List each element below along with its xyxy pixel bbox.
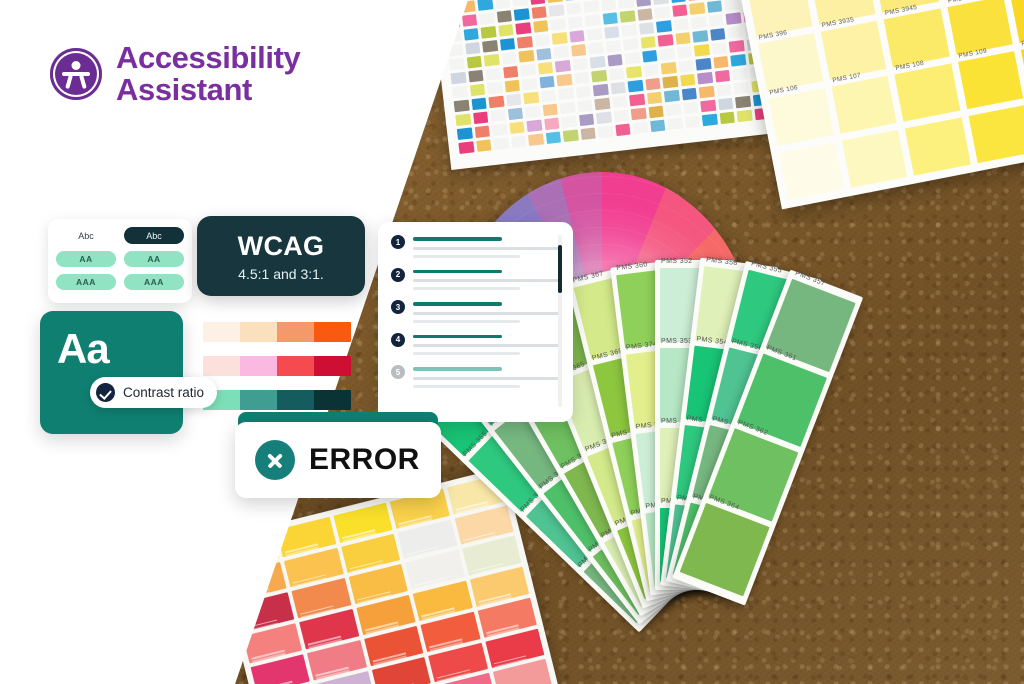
- orange-row: [203, 322, 351, 342]
- list-item[interactable]: 1: [391, 235, 561, 258]
- multicolor-swatch: [495, 0, 511, 9]
- multicolor-swatch: [699, 86, 715, 99]
- multicolor-swatch: [724, 0, 740, 11]
- multicolor-swatch: [643, 64, 659, 77]
- multicolor-swatch: [496, 10, 512, 23]
- multicolor-swatch: [548, 4, 564, 17]
- multicolor-swatch: [574, 72, 590, 85]
- multicolor-swatch: [507, 108, 523, 121]
- palette-swatch: [277, 390, 314, 410]
- accessibility-person-icon: [50, 48, 102, 100]
- multicolor-swatch: [670, 0, 686, 3]
- multicolor-swatch: [713, 56, 729, 69]
- icon-leg-right: [79, 74, 87, 89]
- icon-arms: [62, 72, 90, 76]
- multicolor-swatch: [446, 30, 462, 43]
- list-item-line: [413, 287, 520, 290]
- brand-name-line1: Accessibility: [116, 42, 300, 74]
- palette-swatch: [277, 322, 314, 342]
- multicolor-swatch: [609, 68, 625, 81]
- multicolor-swatch: [545, 131, 561, 144]
- mini-palette-swatches: [203, 322, 351, 424]
- multicolor-swatch: [492, 123, 508, 136]
- multicolor-swatch: [536, 48, 552, 61]
- yellow-swatch: PMS 3935: [821, 21, 886, 79]
- brand-name: Accessibility Assistant: [116, 42, 300, 106]
- palette-swatch: [314, 356, 351, 376]
- multicolor-swatch: [692, 30, 708, 43]
- x-circle-icon: [255, 440, 295, 480]
- contrast-levels-card: Abc AA AAA Abc AA AAA: [48, 219, 192, 303]
- multicolor-swatch: [463, 28, 479, 41]
- list-item-line: [413, 312, 561, 315]
- multicolor-swatch: [605, 40, 621, 53]
- contrast-column-light: Abc AA AAA: [56, 227, 116, 295]
- contrast-column-dark: Abc AA AAA: [124, 227, 184, 295]
- multicolor-swatch: [566, 2, 582, 15]
- multicolor-swatch: [542, 104, 558, 117]
- pms-swatch-label: PMS 352: [661, 258, 693, 265]
- level-badge-aaa-light: AAA: [56, 274, 116, 290]
- multicolor-swatch: [569, 30, 585, 43]
- multicolor-swatch: [447, 44, 463, 57]
- list-item-title-bar: [413, 302, 502, 306]
- yellow-swatch: PMS 106: [769, 87, 834, 145]
- wcag-title: WCAG: [238, 231, 325, 262]
- multicolor-swatch: [708, 14, 724, 27]
- multicolor-swatch: [490, 110, 506, 123]
- level-badge-aa-dark: AA: [124, 251, 184, 267]
- multicolor-swatch: [640, 36, 656, 49]
- multicolor-swatch: [525, 106, 541, 119]
- icon-head: [72, 61, 81, 70]
- multicolor-swatch: [710, 28, 726, 41]
- multicolor-swatch: [575, 86, 591, 99]
- yellow-swatch: [968, 105, 1024, 163]
- multicolor-swatch: [517, 36, 533, 49]
- palette-swatch: [240, 390, 277, 410]
- multicolor-swatch: [624, 52, 640, 65]
- palette-swatch: [314, 322, 351, 342]
- multicolor-swatch: [529, 0, 545, 5]
- wcag-subtitle: 4.5:1 and 3:1.: [238, 266, 324, 282]
- multicolor-swatch: [700, 100, 716, 113]
- multicolor-swatch: [539, 76, 555, 89]
- list-item-line: [413, 377, 561, 380]
- multicolor-swatch: [733, 82, 749, 95]
- multicolor-swatch: [534, 34, 550, 47]
- sample-text-light: Abc: [56, 227, 116, 244]
- multicolor-swatch: [555, 60, 571, 73]
- list-item-title-bar: [413, 367, 502, 371]
- typography-sample-card: Aa: [40, 311, 183, 434]
- contrast-ratio-label: Contrast ratio: [123, 385, 204, 400]
- multicolor-swatch: [597, 126, 613, 139]
- multicolor-swatch: [654, 6, 670, 19]
- list-item-content: [413, 365, 561, 388]
- multicolor-swatch: [653, 0, 669, 5]
- multicolor-swatch: [550, 18, 566, 31]
- list-item-line: [413, 247, 561, 250]
- multicolor-swatch: [601, 0, 617, 11]
- multicolor-swatch: [658, 34, 674, 47]
- multicolor-swatch: [702, 114, 718, 127]
- list-item-title-bar: [413, 237, 502, 241]
- multicolor-swatch: [607, 54, 623, 67]
- level-badge-aa-light: AA: [56, 251, 116, 267]
- multicolor-swatch: [730, 54, 746, 67]
- multicolor-swatch: [631, 108, 647, 121]
- multicolor-swatch: [499, 38, 515, 51]
- multicolor-swatch: [482, 40, 498, 53]
- multicolor-swatch: [522, 78, 538, 91]
- multicolor-swatch: [683, 102, 699, 115]
- multicolor-swatch: [635, 0, 651, 7]
- yellow-swatch: PMS 107: [832, 75, 897, 133]
- check-circle-icon: [96, 383, 115, 402]
- yellow-swatch: [779, 142, 844, 200]
- list-item[interactable]: 4: [391, 333, 561, 356]
- multicolor-swatch: [610, 82, 626, 95]
- multicolor-swatch: [487, 82, 503, 95]
- multicolor-swatch: [577, 100, 593, 113]
- multicolor-swatch: [533, 20, 549, 33]
- multicolor-swatch: [632, 122, 648, 135]
- multicolor-swatch: [711, 42, 727, 55]
- multicolor-swatch: [509, 122, 525, 135]
- multicolor-swatch: [681, 88, 697, 101]
- multicolor-swatch: [504, 80, 520, 93]
- multicolor-swatch: [460, 0, 476, 13]
- multicolor-swatch: [553, 46, 569, 59]
- multicolor-swatch: [650, 120, 666, 133]
- multicolor-swatch: [626, 66, 642, 79]
- multicolor-swatch: [678, 60, 694, 73]
- list-item-line: [413, 352, 520, 355]
- brand-logo[interactable]: Accessibility Assistant: [50, 42, 300, 106]
- multicolor-swatch: [457, 127, 473, 140]
- multicolor-swatch: [673, 18, 689, 31]
- checklist-card[interactable]: 12345: [378, 222, 573, 422]
- multicolor-swatch: [488, 96, 504, 109]
- multicolor-swatch: [526, 120, 542, 133]
- multicolor-swatch: [484, 54, 500, 67]
- multicolor-swatch: [604, 26, 620, 39]
- swatch-label: PMS 3955: [947, 0, 980, 5]
- list-item-line: [413, 320, 520, 323]
- list-item-title-bar: [413, 335, 502, 339]
- yellow-swatch: [842, 129, 907, 187]
- error-label: ERROR: [309, 443, 420, 477]
- vertical-scrollbar[interactable]: [558, 235, 562, 407]
- multicolor-swatch: [691, 16, 707, 29]
- multicolor-swatch: [531, 6, 547, 19]
- multicolor-swatch: [680, 74, 696, 87]
- multicolor-swatch: [450, 72, 466, 85]
- multicolor-swatch: [564, 0, 580, 1]
- multicolor-swatch: [552, 32, 568, 45]
- multicolor-swatch: [579, 114, 595, 127]
- scrollbar-thumb[interactable]: [558, 245, 562, 293]
- multicolor-swatch: [454, 100, 470, 113]
- multicolor-swatch: [560, 102, 576, 115]
- multicolor-swatch: [615, 124, 631, 137]
- multicolor-swatch: [520, 64, 536, 77]
- list-item-number: 3: [391, 300, 405, 314]
- multicolor-swatch: [639, 22, 655, 35]
- multicolor-swatch: [518, 50, 534, 63]
- multicolor-swatch: [618, 0, 634, 9]
- multicolor-swatch: [602, 12, 618, 25]
- multicolor-swatch: [571, 44, 587, 57]
- multicolor-swatch: [501, 52, 517, 65]
- multicolor-swatch: [591, 70, 607, 83]
- multicolor-swatch: [506, 94, 522, 107]
- multicolor-swatch: [628, 80, 644, 93]
- palette-swatch: [203, 356, 240, 376]
- multicolor-swatch: [732, 68, 748, 81]
- multicolor-swatch: [707, 0, 723, 13]
- multicolor-swatch: [672, 4, 688, 17]
- list-item-line: [413, 385, 520, 388]
- multicolor-swatch: [455, 114, 471, 127]
- multicolor-swatch: [473, 112, 489, 125]
- warm-swatch: [220, 531, 279, 571]
- multicolor-swatch: [648, 106, 664, 119]
- multicolor-swatch: [620, 10, 636, 23]
- multicolor-swatch: [512, 0, 528, 7]
- multicolor-swatch: [593, 84, 609, 97]
- multicolor-swatch: [642, 50, 658, 63]
- multicolor-swatch: [664, 90, 680, 103]
- multicolor-swatch: [716, 84, 732, 97]
- palette-swatch: [314, 390, 351, 410]
- contrast-ratio-badge[interactable]: Contrast ratio: [90, 377, 217, 408]
- multicolor-swatch: [656, 20, 672, 33]
- list-item-content: [413, 268, 561, 291]
- list-item[interactable]: 3: [391, 300, 561, 323]
- multicolor-swatch: [659, 48, 675, 61]
- multicolor-swatch: [629, 94, 645, 107]
- multicolor-swatch: [449, 58, 465, 71]
- multicolor-swatch: [697, 72, 713, 85]
- multicolor-swatch: [621, 24, 637, 37]
- pms-swatch-label: PMS 353: [661, 338, 693, 345]
- multicolor-swatch: [466, 56, 482, 69]
- multicolor-swatch: [677, 46, 693, 59]
- multicolor-swatch: [613, 110, 629, 123]
- yellow-swatch: PMS 109: [958, 51, 1023, 109]
- list-item-line: [413, 279, 561, 282]
- multicolor-swatch: [558, 88, 574, 101]
- teal-row: [203, 390, 351, 410]
- multicolor-swatch: [623, 38, 639, 51]
- multicolor-swatch: [737, 110, 753, 123]
- green-pms-fan: PMS 354PMS 355PMS 356PMS 357PMS 356PMS 3…: [655, 300, 1024, 684]
- list-item-content: [413, 333, 561, 356]
- multicolor-swatch: [563, 129, 579, 142]
- palette-swatch: [277, 356, 314, 376]
- multicolor-swatch: [580, 128, 596, 141]
- multicolor-swatch: [480, 26, 496, 39]
- multicolor-swatch: [537, 62, 553, 75]
- list-item[interactable]: 2: [391, 268, 561, 291]
- multicolor-swatch: [583, 0, 599, 13]
- multicolor-swatch: [477, 0, 493, 11]
- multicolor-swatch: [556, 74, 572, 87]
- multicolor-swatch: [662, 76, 678, 89]
- list-item-number: 5: [391, 365, 405, 379]
- yellow-swatch: [905, 117, 970, 175]
- multicolor-swatch: [561, 116, 577, 129]
- multicolor-swatch: [515, 22, 531, 35]
- multicolor-swatch: [645, 78, 661, 91]
- palette-swatch: [203, 322, 240, 342]
- multicolor-swatch: [689, 2, 705, 15]
- multicolor-swatch: [695, 58, 711, 71]
- multicolor-swatch: [572, 58, 588, 71]
- level-badge-aaa-dark: AAA: [124, 274, 184, 290]
- list-item-line: [413, 344, 561, 347]
- list-item-number: 2: [391, 268, 405, 282]
- multicolor-swatch: [544, 118, 560, 131]
- icon-leg-left: [65, 74, 73, 89]
- palette-swatch: [240, 322, 277, 342]
- multicolor-swatch: [498, 24, 514, 37]
- multicolor-swatch: [547, 0, 563, 3]
- multicolor-swatch: [476, 139, 492, 152]
- multicolor-swatch: [462, 14, 478, 27]
- multicolor-swatch: [667, 118, 683, 131]
- multicolor-swatch: [727, 26, 743, 39]
- multicolor-swatch: [735, 96, 751, 109]
- multicolor-swatch: [479, 12, 495, 25]
- multicolor-swatch: [444, 16, 460, 29]
- multicolor-swatch: [612, 96, 628, 109]
- multicolor-swatch: [585, 14, 601, 27]
- multicolor-swatch: [725, 12, 741, 25]
- multicolor-swatch: [684, 116, 700, 129]
- multicolor-swatch: [441, 0, 457, 1]
- multicolor-swatch: [588, 42, 604, 55]
- screenshot-canvas: PMS 387PMS 388PMS 393PMS 394PMS 395PMS 3…: [0, 0, 1024, 684]
- multicolor-swatch: [694, 44, 710, 57]
- aa-label: Aa: [57, 328, 109, 370]
- multicolor-swatch: [637, 8, 653, 21]
- yellow-swatch: PMS 108: [895, 63, 960, 121]
- multicolor-swatch: [458, 141, 474, 154]
- palette-swatch: [240, 356, 277, 376]
- multicolor-swatch: [541, 90, 557, 103]
- multicolor-swatch: [675, 32, 691, 45]
- wcag-card: WCAG 4.5:1 and 3:1.: [197, 216, 365, 296]
- sample-text-dark: Abc: [124, 227, 184, 244]
- multicolor-swatch: [594, 98, 610, 111]
- yellow-swatch: PMS 396: [758, 33, 823, 91]
- multicolor-swatch: [590, 56, 606, 69]
- multicolor-swatch: [528, 133, 544, 146]
- multicolor-swatch: [719, 112, 735, 125]
- multicolor-swatch: [443, 2, 459, 15]
- list-item-title-bar: [413, 270, 502, 274]
- error-card: ERROR: [235, 422, 441, 498]
- list-item-line: [413, 255, 520, 258]
- yellow-swatch: PMS 3955: [947, 0, 1012, 55]
- list-item[interactable]: 5: [391, 365, 561, 388]
- list-item-number: 4: [391, 333, 405, 347]
- multicolor-swatch: [474, 125, 490, 138]
- list-item-content: [413, 300, 561, 323]
- multicolor-swatch: [485, 68, 501, 81]
- yellow-swatch: PMS 3965: [1010, 0, 1024, 43]
- multicolor-swatch: [718, 98, 734, 111]
- multicolor-swatch: [514, 8, 530, 21]
- multicolor-swatch: [646, 92, 662, 105]
- multicolor-swatch: [511, 135, 527, 148]
- multicolor-swatch: [661, 62, 677, 75]
- list-item-number: 1: [391, 235, 405, 249]
- multicolor-swatch: [729, 40, 745, 53]
- multicolor-swatch: [471, 98, 487, 111]
- multicolor-swatch: [469, 84, 485, 97]
- multicolor-swatch: [596, 112, 612, 125]
- multicolor-swatch: [493, 137, 509, 150]
- multicolor-swatch: [523, 92, 539, 105]
- multicolor-swatch: [468, 70, 484, 83]
- multicolor-swatch: [452, 86, 468, 99]
- multicolor-swatch: [567, 16, 583, 29]
- multicolor-swatch: [688, 0, 704, 1]
- list-item-content: [413, 235, 561, 258]
- multicolor-swatch: [465, 42, 481, 55]
- multicolor-swatch: [665, 104, 681, 117]
- multicolor-swatch: [503, 66, 519, 79]
- yellow-swatch: PMS 3945: [884, 9, 949, 67]
- multicolor-swatch: [586, 28, 602, 41]
- pink-red-row: [203, 356, 351, 376]
- multicolor-swatch: [714, 70, 730, 83]
- brand-name-line2: Assistant: [116, 74, 300, 106]
